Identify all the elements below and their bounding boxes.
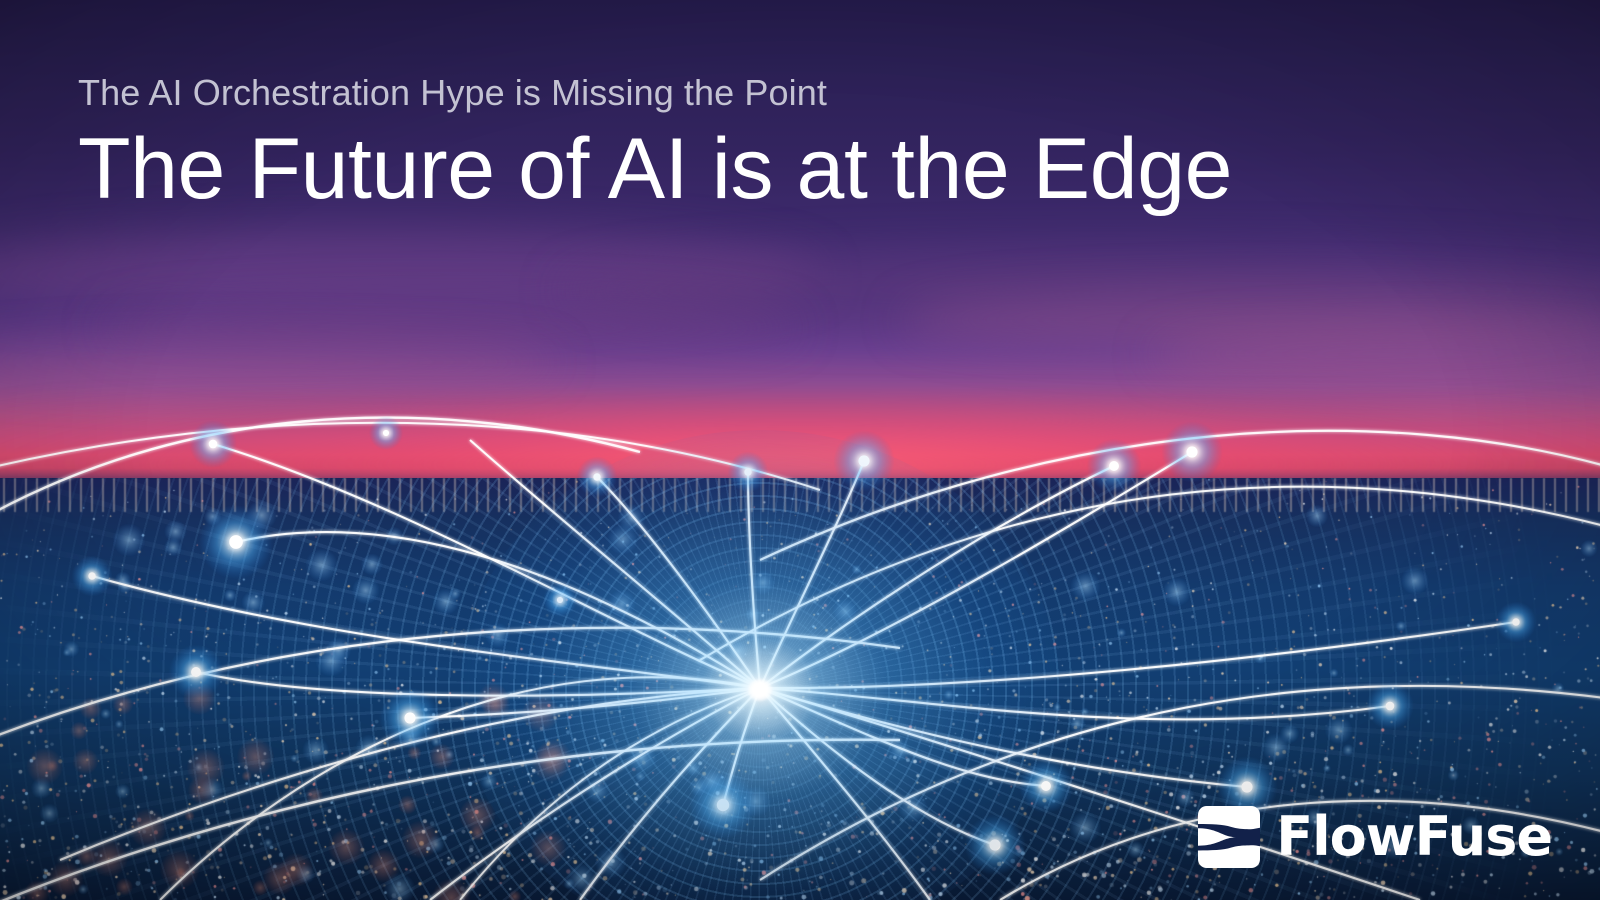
flowfuse-logo-icon: [1198, 806, 1260, 868]
network-node: [404, 712, 415, 723]
network-node: [1041, 781, 1051, 791]
network-node: [209, 440, 218, 449]
network-node: [88, 572, 95, 579]
flowfuse-logo[interactable]: FlowFuse: [1198, 806, 1552, 868]
hero-kicker: The AI Orchestration Hype is Missing the…: [78, 72, 1478, 113]
network-node: [1186, 446, 1197, 457]
hero-banner: The AI Orchestration Hype is Missing the…: [0, 0, 1600, 900]
network-node: [229, 535, 243, 549]
network-node: [191, 667, 201, 677]
hero-text-block: The AI Orchestration Hype is Missing the…: [78, 72, 1478, 221]
network-node: [1386, 702, 1395, 711]
network-node: [1512, 618, 1519, 625]
hero-headline: The Future of AI is at the Edge: [78, 119, 1478, 220]
network-node: [1109, 461, 1119, 471]
flowfuse-wordmark: FlowFuse: [1276, 810, 1552, 864]
hub-core-light: [748, 679, 772, 701]
network-node: [1241, 781, 1252, 792]
network-node: [383, 430, 389, 436]
